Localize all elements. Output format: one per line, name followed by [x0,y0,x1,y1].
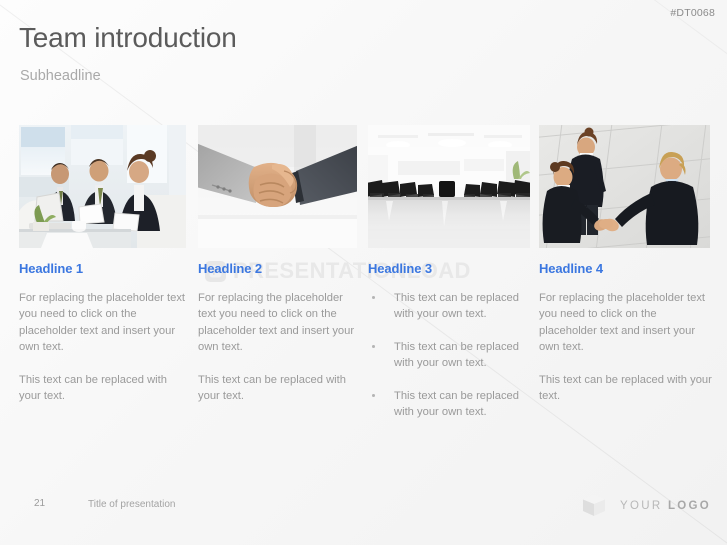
bullet-text: This text can be replaced with your own … [394,341,519,369]
list-item[interactable]: This text can be replaced with your own … [368,290,531,323]
bullet-dot-icon [372,296,375,299]
photo-greeting [539,125,710,248]
column-2-paragraph-2[interactable]: This text can be replaced with your text… [198,372,358,405]
column-3-headline: Headline 3 [368,261,531,276]
column-1-paragraph-1[interactable]: For replacing the placeholder text you n… [19,290,189,356]
bullet-text: This text can be replaced with your own … [394,390,519,418]
column-1-paragraph-2[interactable]: This text can be replaced with your text… [19,372,189,405]
list-item[interactable]: This text can be replaced with your own … [368,339,531,372]
column-2-headline: Headline 2 [198,261,358,276]
logo: YOUR LOGO [580,492,711,520]
bullet-dot-icon [372,345,375,348]
column-4-paragraph-1[interactable]: For replacing the placeholder text you n… [539,290,717,356]
content-column-2: Headline 2 For replacing the placeholder… [198,261,358,404]
bullet-text: This text can be replaced with your own … [394,292,519,320]
document-code: #DT0068 [670,7,715,19]
list-item[interactable]: This text can be replaced with your own … [368,388,531,421]
footer-presentation-title: Title of presentation [88,499,175,510]
column-3-bullet-list: This text can be replaced with your own … [368,290,531,420]
page-title: Team introduction [19,22,237,54]
column-1-headline: Headline 1 [19,261,189,276]
page-subtitle: Subheadline [20,68,101,84]
column-4-paragraph-2[interactable]: This text can be replaced with your text… [539,372,717,405]
content-column-3: Headline 3 This text can be replaced wit… [368,261,531,420]
logo-word-2: LOGO [668,500,711,512]
slide: #DT0068 Team introduction Subheadline [0,0,727,545]
page-number: 21 [34,498,45,509]
column-4-headline: Headline 4 [539,261,717,276]
photo-conference-room [368,125,530,248]
logo-text: YOUR LOGO [620,500,711,512]
column-2-paragraph-1[interactable]: For replacing the placeholder text you n… [198,290,358,356]
content-column-1: Headline 1 For replacing the placeholder… [19,261,189,404]
cube-icon [580,492,608,520]
content-column-4: Headline 4 For replacing the placeholder… [539,261,717,404]
logo-word-1: YOUR [620,500,662,512]
photo-team-meeting [19,125,186,248]
bullet-dot-icon [372,394,375,397]
photo-handshake [198,125,357,248]
